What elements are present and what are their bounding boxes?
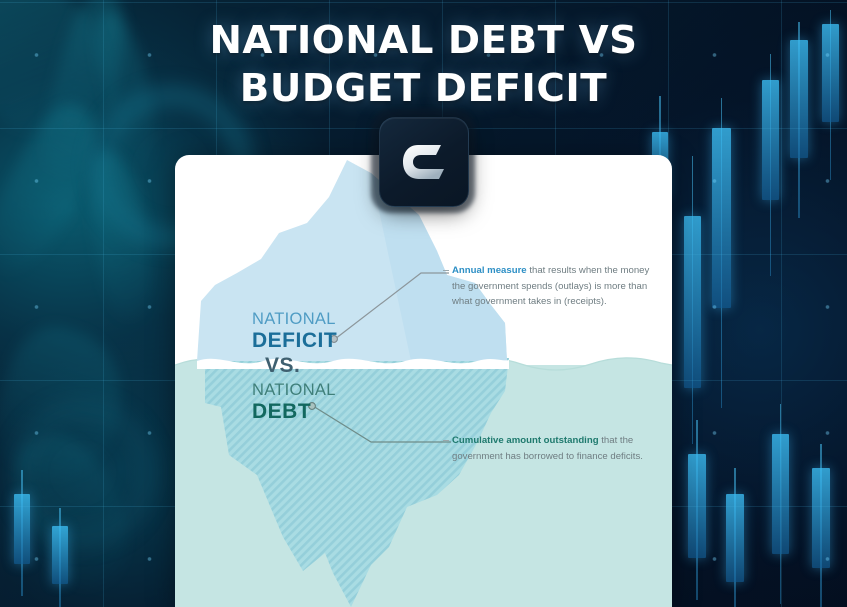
debt-annotation-lead: Cumulative amount outstanding xyxy=(452,435,599,446)
iceberg-below-water xyxy=(205,358,509,607)
label-deficit-bold: DEFICIT xyxy=(252,329,337,353)
debt-annotation-dash xyxy=(443,440,449,441)
page-title: NATIONAL DEBT VS BUDGET DEFICIT xyxy=(0,16,847,112)
page-title-line-2: BUDGET DEFICIT xyxy=(0,64,847,112)
deficit-annotation: Annual measure that results when the mon… xyxy=(452,263,657,310)
label-debt-thin: NATIONAL xyxy=(252,381,336,400)
label-deficit-thin: NATIONAL xyxy=(252,310,337,329)
page-title-line-1: NATIONAL DEBT VS xyxy=(0,16,847,64)
deficit-annotation-dash xyxy=(443,270,449,271)
label-national-debt: NATIONAL DEBT xyxy=(252,381,336,424)
iceberg-illustration xyxy=(175,155,672,607)
content-card: NATIONAL DEFICIT VS. NATIONAL DEBT Annua… xyxy=(175,155,672,607)
debt-annotation: Cumulative amount outstanding that the g… xyxy=(452,433,657,464)
logo-badge[interactable] xyxy=(379,117,469,207)
label-national-deficit: NATIONAL DEFICIT xyxy=(252,310,337,353)
label-debt-bold: DEBT xyxy=(252,400,336,424)
infographic-canvas: NATIONAL DEBT VS BUDGET DEFICIT xyxy=(0,0,847,607)
label-versus: VS. xyxy=(265,354,300,378)
company-logo-icon xyxy=(400,139,448,185)
deficit-annotation-lead: Annual measure xyxy=(452,265,527,276)
